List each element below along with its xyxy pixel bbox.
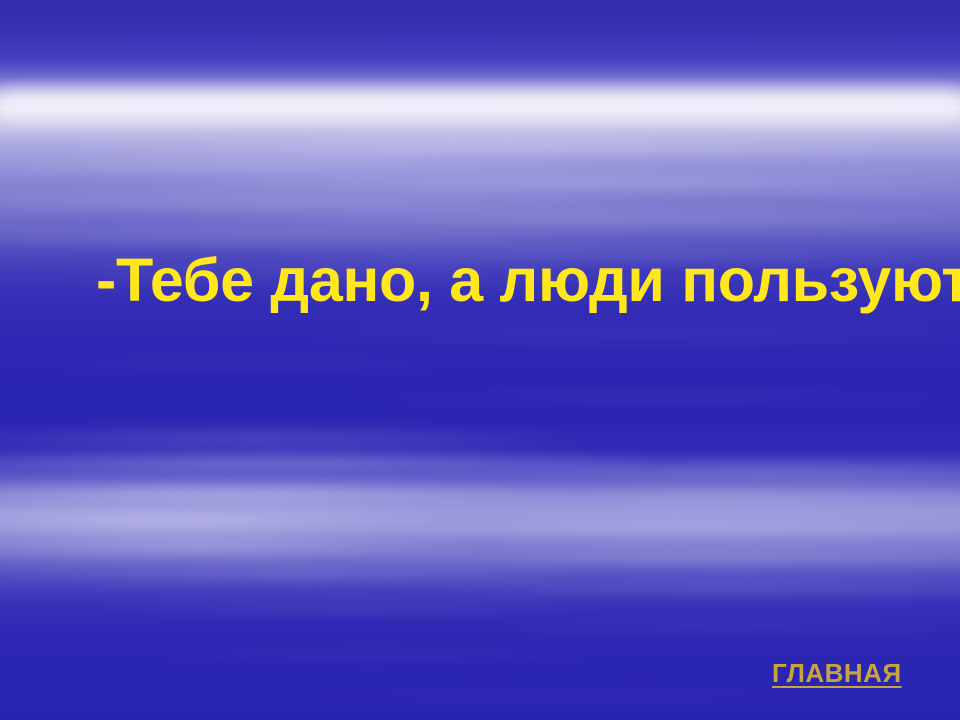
home-link[interactable]: ГЛАВНАЯ: [772, 658, 902, 689]
presentation-slide: -Тебе дано, а люди пользуются ГЛАВНАЯ: [0, 0, 960, 720]
slide-headline: -Тебе дано, а люди пользуются: [96, 248, 896, 312]
slide-content: -Тебе дано, а люди пользуются ГЛАВНАЯ: [0, 0, 960, 720]
